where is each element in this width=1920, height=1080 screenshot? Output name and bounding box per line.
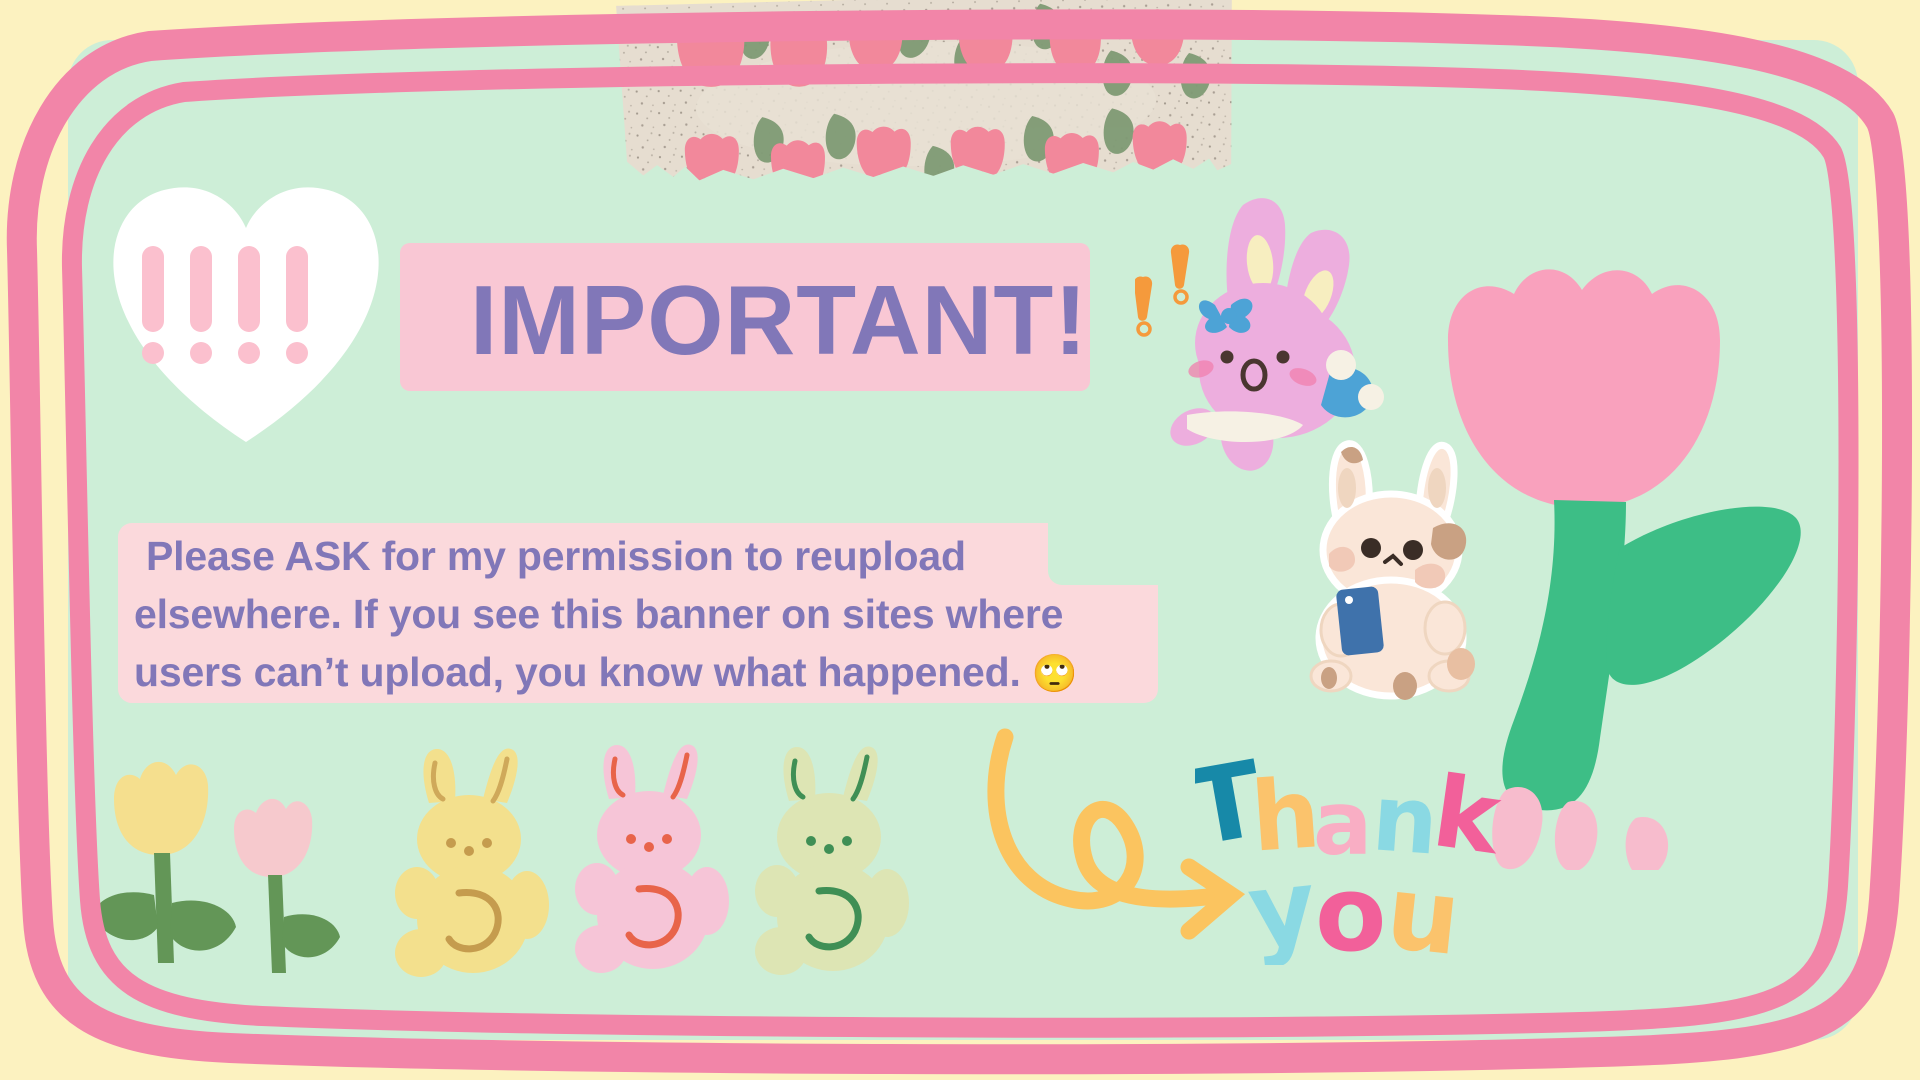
page-background: IMPORTANT! Please ASK for my permission … [0, 0, 1920, 1080]
you-letter-y: y [1243, 847, 1322, 965]
you-letter-u: u [1381, 853, 1466, 965]
body-line-3: users can’t upload, you know what happen… [134, 649, 1032, 695]
body-line-3-wrap: users can’t upload, you know what happen… [134, 643, 1194, 703]
you-letter-o: o [1315, 853, 1386, 965]
page-title: IMPORTANT! [470, 262, 1110, 378]
gummy-bunny-trio [395, 735, 970, 985]
rolling-eyes-emoji: 🙄 [1032, 653, 1078, 694]
small-tulips [90, 745, 350, 990]
body-text: Please ASK for my permission to reupload… [134, 527, 1194, 703]
white-heart-sticker [86, 142, 406, 462]
body-line-2: elsewhere. If you see this banner on sit… [134, 585, 1194, 643]
body-line-1: Please ASK for my permission to reupload [134, 527, 1194, 585]
thank-you-lettering: T h a n k y o u [1195, 750, 1515, 965]
